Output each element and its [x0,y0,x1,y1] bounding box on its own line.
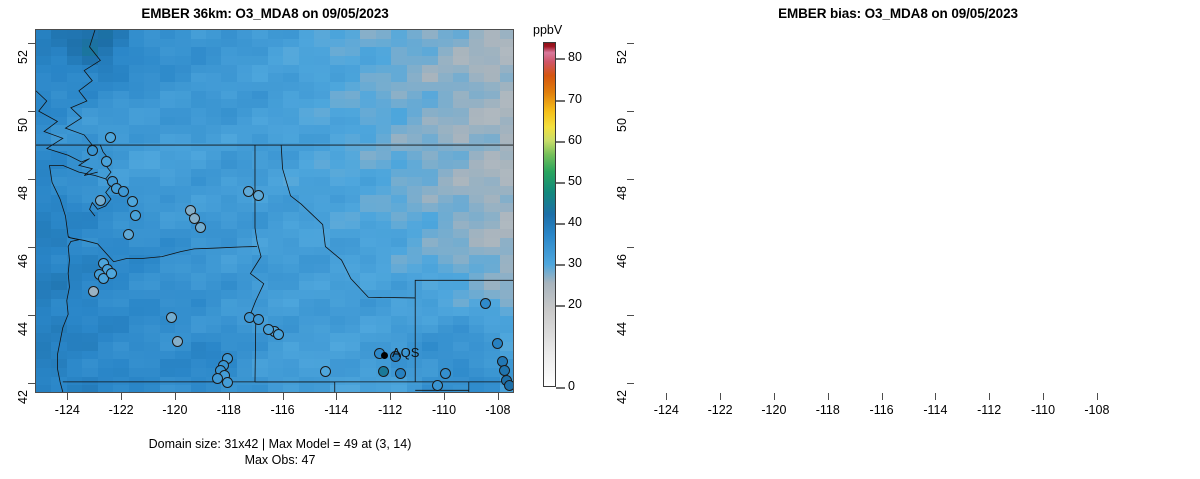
x-axis-tick-label: -124 [45,403,89,417]
observation-point [172,336,183,347]
y-axis-tick-label: 50 [16,110,30,140]
model-colorbar-gradient [543,42,556,387]
colorbar-tick [556,182,565,184]
x-axis-tick-label: -118 [806,403,850,417]
observation-point [101,156,112,167]
x-axis-tick [720,393,721,400]
coastline-path [65,30,111,216]
x-axis-tick [1043,393,1044,400]
border-path [68,237,257,261]
colorbar-tick [556,387,565,389]
x-axis-tick-label: -108 [476,403,520,417]
x-axis-tick-label: -120 [153,403,197,417]
model-caption-line2: Max Obs: 47 [10,452,550,468]
observation-point [499,365,510,376]
x-axis-tick-label: -122 [698,403,742,417]
border-path [281,145,415,298]
y-axis-tick-label: 46 [16,246,30,276]
x-axis-tick-label: -116 [860,403,904,417]
y-axis-tick-label: 50 [615,110,629,140]
x-axis-tick [121,393,122,400]
x-axis-tick [935,393,936,400]
x-axis-tick-label: -110 [422,403,466,417]
colorbar-tick [556,264,565,266]
observation-point [432,380,443,391]
model-caption: Domain size: 31x42 | Max Model = 49 at (… [10,436,550,468]
colorbar-tick [556,223,565,225]
x-axis-tick [774,393,775,400]
x-axis-tick [67,393,68,400]
colorbar-tick-label: 70 [568,92,582,106]
observation-point [123,229,134,240]
observation-point [195,222,206,233]
y-axis-tick-label: 44 [16,314,30,344]
colorbar-tick-label: 40 [568,215,582,229]
observation-point [440,368,451,379]
model-colorbar-unit: ppbV [533,23,562,37]
x-axis-tick-label: -120 [752,403,796,417]
observation-point [222,377,233,388]
x-axis-tick-label: -110 [1021,403,1065,417]
model-caption-line1: Domain size: 31x42 | Max Model = 49 at (… [10,436,550,452]
x-axis-tick [283,393,284,400]
x-axis-tick [498,393,499,400]
x-axis-tick [1097,393,1098,400]
panel-model: EMBER 36km: O3_MDA8 on 09/05/2023 AQS -1… [0,0,600,479]
y-axis-tick-label: 46 [615,246,629,276]
y-axis-tick-label: 42 [615,382,629,412]
colorbar-tick [556,100,565,102]
observation-point [130,210,141,221]
x-axis-tick [229,393,230,400]
y-axis-tick-label: 52 [615,42,629,72]
x-axis-tick [828,393,829,400]
x-axis-tick-label: -124 [644,403,688,417]
x-axis-tick-label: -114 [913,403,957,417]
x-axis-tick [175,393,176,400]
panel-bias: EMBER bias: O3_MDA8 on 09/05/2023 AQS -1… [600,0,1200,479]
observation-point [253,314,264,325]
colorbar-tick-label: 50 [568,174,582,188]
border-path [415,280,513,298]
colorbar-tick-label: 20 [568,297,582,311]
x-axis-tick [444,393,445,400]
panel-bias-title: EMBER bias: O3_MDA8 on 09/05/2023 [628,6,1168,21]
colorbar-tick [556,58,565,60]
x-axis-tick [390,393,391,400]
observation-point [378,366,389,377]
colorbar-tick-label: 80 [568,50,582,64]
y-axis-tick-label: 48 [16,178,30,208]
x-axis-tick-label: -112 [368,403,412,417]
x-axis-tick-label: -118 [207,403,251,417]
x-axis-tick-label: -122 [99,403,143,417]
x-axis-tick [882,393,883,400]
x-axis-tick-label: -114 [314,403,358,417]
aqs-legend-label: AQS [392,345,419,360]
observation-point [105,132,116,143]
colorbar-tick-label: 60 [568,133,582,147]
figure-canvas: EMBER 36km: O3_MDA8 on 09/05/2023 AQS -1… [0,0,1200,479]
x-axis-tick [666,393,667,400]
observation-point [106,268,117,279]
model-map-plot[interactable]: AQS [35,29,514,393]
coastline-path [36,91,98,176]
observation-point [504,380,514,391]
coastline-path [49,165,78,392]
observation-point [492,338,503,349]
x-axis-tick-label: -112 [967,403,1011,417]
x-axis-tick [336,393,337,400]
panel-model-title: EMBER 36km: O3_MDA8 on 09/05/2023 [0,6,530,21]
x-axis-tick [989,393,990,400]
observation-point [95,195,106,206]
y-axis-tick-label: 42 [16,382,30,412]
aqs-legend-dot [381,352,388,359]
y-axis-tick-label: 52 [16,42,30,72]
x-axis-tick-label: -116 [261,403,305,417]
observation-point [253,190,264,201]
colorbar-tick [556,305,565,307]
colorbar-tick-label: 30 [568,256,582,270]
colorbar-tick [556,141,565,143]
colorbar-tick-label: 0 [568,379,575,393]
x-axis-tick-label: -108 [1075,403,1119,417]
y-axis-tick-label: 44 [615,314,629,344]
y-axis-tick-label: 48 [615,178,629,208]
observation-point [273,329,284,340]
